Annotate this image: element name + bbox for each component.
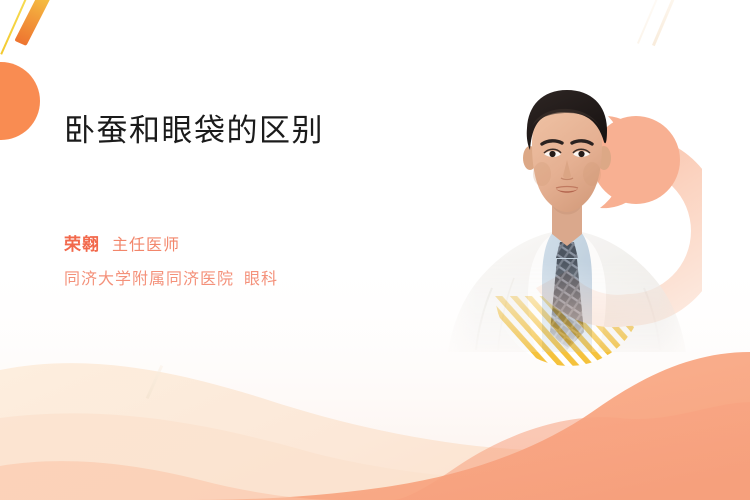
head bbox=[523, 90, 611, 212]
byline-row-doctor: 荣翱主任医师 bbox=[64, 232, 424, 258]
orange-circle-decor bbox=[0, 62, 40, 140]
wave-salmon-main bbox=[196, 352, 750, 500]
video-cover-card: 卧蚕和眼袋的区别 荣翱主任医师 同济大学附属同济医院眼科 bbox=[0, 0, 750, 500]
pale-streak-decor-a bbox=[652, 0, 679, 46]
doctor-title: 主任医师 bbox=[112, 237, 180, 254]
pale-streak-decor-c bbox=[146, 365, 163, 399]
doctor-portrait bbox=[432, 82, 702, 372]
department-name: 眼科 bbox=[244, 271, 278, 288]
pale-streak-decor-b bbox=[637, 0, 663, 44]
wave-peach-light bbox=[0, 363, 750, 500]
byline-row-affiliation: 同济大学附属同济医院眼科 bbox=[64, 268, 424, 292]
hospital-name: 同济大学附属同济医院 bbox=[64, 271, 234, 288]
byline: 荣翱主任医师 同济大学附属同济医院眼科 bbox=[64, 232, 424, 292]
wave-salmon-toe bbox=[0, 461, 340, 500]
page-title: 卧蚕和眼袋的区别 bbox=[64, 112, 424, 151]
wave-salmon-lobe bbox=[392, 402, 750, 500]
text-block: 卧蚕和眼袋的区别 荣翱主任医师 同济大学附属同济医院眼科 bbox=[64, 112, 424, 292]
doctor-name: 荣翱 bbox=[64, 235, 100, 254]
wave-peach-band bbox=[0, 413, 750, 500]
